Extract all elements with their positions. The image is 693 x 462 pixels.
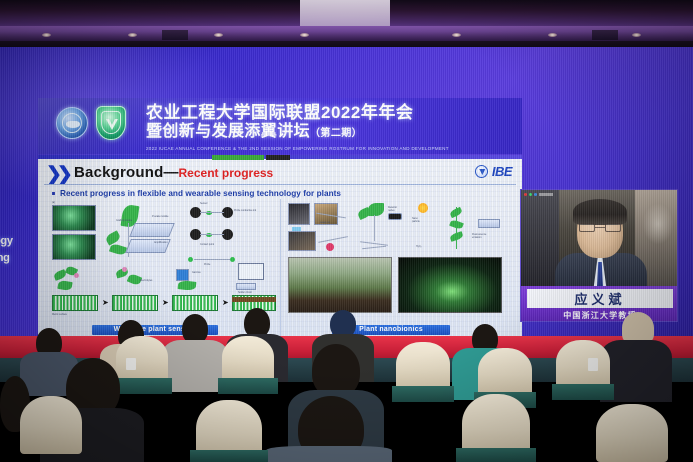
ceiling-light [548,33,557,37]
circuit-line [200,212,224,213]
audience-body [266,446,392,462]
readout-device [236,283,256,290]
led-wall: ogy ing 农业工程大学国际联盟2022年年会 暨创新与发展添翼讲坛（第二期… [0,47,693,343]
figure-caption: Nanoparticle [412,217,420,223]
figure-caption: Solder circuit [238,291,252,294]
leaf-shape [368,203,384,216]
chair [596,404,668,462]
slide-tag-dark [266,155,290,160]
stain-marker [122,267,127,272]
video-bg-left [521,190,559,286]
slide-title-row: ❯❯ Background — Recent progress [46,163,273,181]
slide-bullet-row: Recent progress in flexible and wearable… [52,189,341,198]
ceiling-panel [300,0,390,26]
ceiling-vent [162,30,188,40]
ceiling [0,0,693,48]
figure-caption: Grafting device [116,219,132,222]
banner-title-line2-suffix: （第二期） [310,128,362,139]
electrode-dot [190,229,201,240]
video-bg-highlight [643,204,673,244]
device-photo [288,203,310,225]
conference-hall-screenshot: ogy ing 农业工程大学国际联盟2022年年会 暨创新与发展添翼讲坛（第二期… [0,0,693,462]
chair-base [392,386,454,402]
plant-stem [374,215,375,241]
slide-title-dash: — [164,164,179,181]
root-line [360,241,388,245]
leaf-shape [109,243,127,257]
electrode-dot [190,207,201,218]
ceiling-light [128,33,137,37]
legend-box [478,219,500,228]
chevron-right-icon: ❯❯ [46,166,68,183]
lab-photo [288,231,316,251]
status-dot-green-icon [529,193,532,196]
electrode-dot [222,229,233,240]
banner-subtitle-en: 2022 IUCAE ANNUAL CONFERENCE & THE 2ND S… [146,145,516,153]
micrograph-bottom [52,234,96,260]
ceiling-vent [592,30,618,40]
micrograph-top [52,205,96,231]
tea-cup [126,358,136,370]
slide-title-main: Background [74,164,164,181]
figure-caption: Fluorescenceemission [472,233,486,239]
video-status-indicators [524,193,553,196]
side-text-line1: ogy [0,233,38,250]
chair-base [218,378,278,394]
figure-caption: Electrolytes [140,279,152,282]
slide-title-rule [44,184,516,185]
stain-marker [74,273,79,278]
ceiling-light [214,33,223,37]
chair [396,342,450,390]
figure-caption: Sensor [200,202,208,205]
tea-cup [588,358,598,371]
figure-caption: Laser cut [320,221,330,224]
micrograph-caption: (a) [52,201,55,204]
flexible-chip [129,223,175,237]
connector-line [318,236,348,242]
speaker-hair [573,199,627,225]
marker-dot [326,243,334,251]
figure-caption: Contact point [200,243,214,246]
figure-caption: H₂O₂ [416,245,421,248]
leaf-cluster [57,280,72,291]
video-label-bar [539,193,553,196]
chair [222,336,274,382]
figure-caption: Gamma [192,271,201,274]
chair-base [552,384,614,400]
circuit-line [200,234,224,235]
banner-title-line1: 农业工程大学国际联盟2022年年会 [146,103,516,122]
sun-icon [418,203,428,213]
figure-caption: P-scale module [152,215,168,218]
banner-title-line2-main: 暨创新与发展添翼讲坛 [146,123,310,140]
ibe-logo: IBE [475,164,512,179]
side-text-line2: ing [0,250,38,267]
chair-base [112,378,172,394]
ibe-logo-text: IBE [492,164,512,179]
chair [556,340,610,388]
sensor-node [188,257,193,262]
iucae-circular-emblem-icon [56,107,88,139]
ceiling-light [300,33,309,37]
emblem-row [56,106,126,140]
circuit-line [194,259,230,260]
figure-caption: Detectornodes [388,206,397,212]
ceiling-light [632,33,641,37]
glasses-bridge-icon [595,227,605,228]
plant-stem [456,207,457,249]
chair [478,348,532,396]
figure-caption: Probe conductive ink [234,209,256,212]
root-line [362,246,386,249]
chair [20,396,82,454]
chair-base [190,450,268,462]
readout-monitor [238,263,264,280]
ceiling-light [42,33,51,37]
sensor-node [230,257,235,262]
chair-base [456,448,536,462]
side-panel-text: ogy ing [0,233,38,267]
status-dot-red-icon [524,193,527,196]
chair [116,336,168,382]
banner-title-line2: 暨创新与发展添翼讲坛（第二期） [146,122,516,143]
glasses-right-lens-icon [605,223,621,232]
figure-caption: Probe [204,263,210,266]
banner-titles: 农业工程大学国际联盟2022年年会 暨创新与发展添翼讲坛（第二期） 2022 I… [146,103,516,153]
glasses-left-lens-icon [579,223,595,232]
slide-title-sub: Recent progress [179,166,274,180]
speaker-video-feed [521,190,678,286]
bullet-marker-icon [52,192,55,195]
slide-bullet-text: Recent progress in flexible and wearable… [60,189,341,198]
leaf-cluster [178,280,197,291]
arrow-down-block [176,269,189,281]
beaker-icon [292,227,301,231]
ceiling-light [452,33,461,37]
ibe-emblem-icon [475,165,488,178]
status-dot-blue-icon [534,193,537,196]
university-shield-emblem-icon [96,106,126,140]
leaf-shape [104,230,121,245]
figure-caption: Amplification [154,241,168,244]
slide-tag-green [212,155,264,160]
sensor-patch [388,213,402,220]
conference-banner: 农业工程大学国际联盟2022年年会 暨创新与发展添翼讲坛（第二期） 2022 I… [38,98,522,154]
electrode-dot [222,207,233,218]
ceiling-light-band [0,26,693,42]
audience-area [0,300,693,462]
